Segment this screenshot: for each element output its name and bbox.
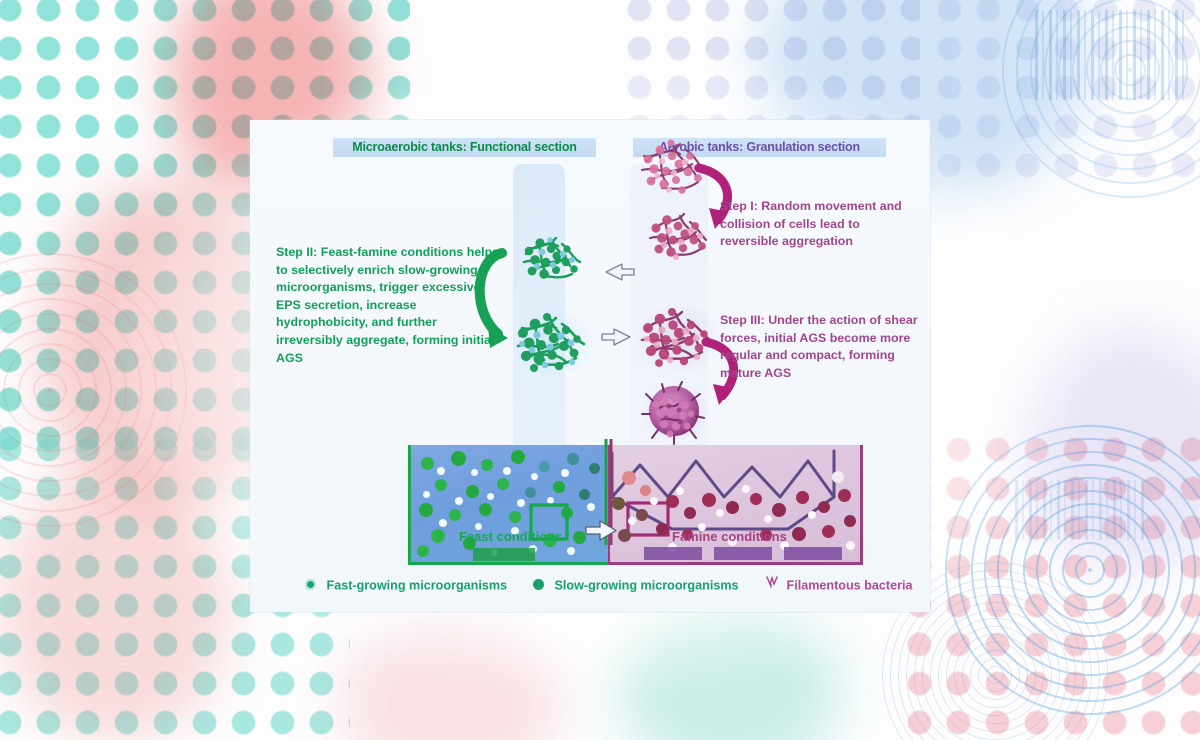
bubble	[684, 507, 696, 519]
bubble	[702, 493, 716, 507]
bubble	[750, 493, 762, 505]
header-microaerobic-tanks: Microaerobic tanks: Functional section	[333, 138, 596, 157]
legend-label: Filamentous bacteria	[787, 579, 913, 593]
bubble	[822, 525, 835, 538]
figure-legend: Fast-growing microorganisms Slow-growing…	[250, 572, 930, 598]
solid-dot-icon	[533, 579, 544, 590]
sludge-block	[714, 547, 772, 560]
bubble	[726, 501, 739, 514]
bubble	[838, 489, 851, 502]
feast-selection-box	[411, 445, 609, 562]
bubble	[612, 497, 625, 510]
sludge-block	[644, 547, 702, 560]
famine-basin: Famine conditions	[608, 445, 863, 565]
bubble	[792, 527, 806, 541]
bubble-white	[832, 471, 844, 483]
legend-label: Fast-growing microorganisms	[327, 579, 508, 593]
legend-item-fast-growing: Fast-growing microorganisms	[305, 572, 507, 598]
bubble	[796, 491, 809, 504]
step-3-text: Step III: Under the action of shear forc…	[720, 312, 920, 382]
figure-panel: Microaerobic tanks: Functional section A…	[250, 120, 930, 612]
step-2-text: Step II: Feast-famine conditions helps t…	[276, 244, 506, 367]
ring-dot-icon	[305, 579, 316, 590]
microaerobic-reactor-tube	[513, 164, 565, 474]
bubble-white	[764, 515, 772, 523]
legend-item-slow-growing: Slow-growing microorganisms	[533, 572, 739, 598]
filament-icon	[765, 572, 778, 598]
step-1-text: Step I: Random movement and collision of…	[720, 198, 912, 251]
legend-label: Slow-growing microorganisms	[555, 579, 739, 593]
bubble	[618, 529, 631, 542]
famine-conditions-label: Famine conditions	[672, 529, 787, 544]
bubble-white	[742, 485, 750, 493]
sludge-block	[784, 547, 842, 560]
aerobic-reactor-tube	[630, 164, 708, 464]
hollow-arrow-right	[602, 329, 630, 345]
bubble	[666, 495, 679, 508]
bubble	[844, 515, 856, 527]
bubble	[636, 509, 648, 521]
bubble-white	[808, 511, 816, 519]
feast-basin: Feast conditions	[408, 445, 611, 565]
bubble-white	[846, 541, 855, 550]
feast-conditions-label: Feast conditions	[459, 529, 562, 544]
reactor-basins: Feast conditions	[408, 445, 858, 562]
bubble-white	[628, 517, 636, 525]
sludge-block	[473, 548, 535, 561]
bubble-white	[716, 509, 724, 517]
bubble	[622, 471, 636, 485]
legend-item-filamentous: Filamentous bacteria	[765, 572, 912, 598]
bubble-white	[676, 487, 684, 495]
bubble	[656, 523, 668, 535]
bubble	[818, 501, 830, 513]
bubble	[640, 485, 651, 496]
bubble-white	[650, 497, 658, 505]
header-aerobic-tanks: Aerobic tanks: Granulation section	[633, 138, 886, 157]
bubble	[772, 503, 786, 517]
